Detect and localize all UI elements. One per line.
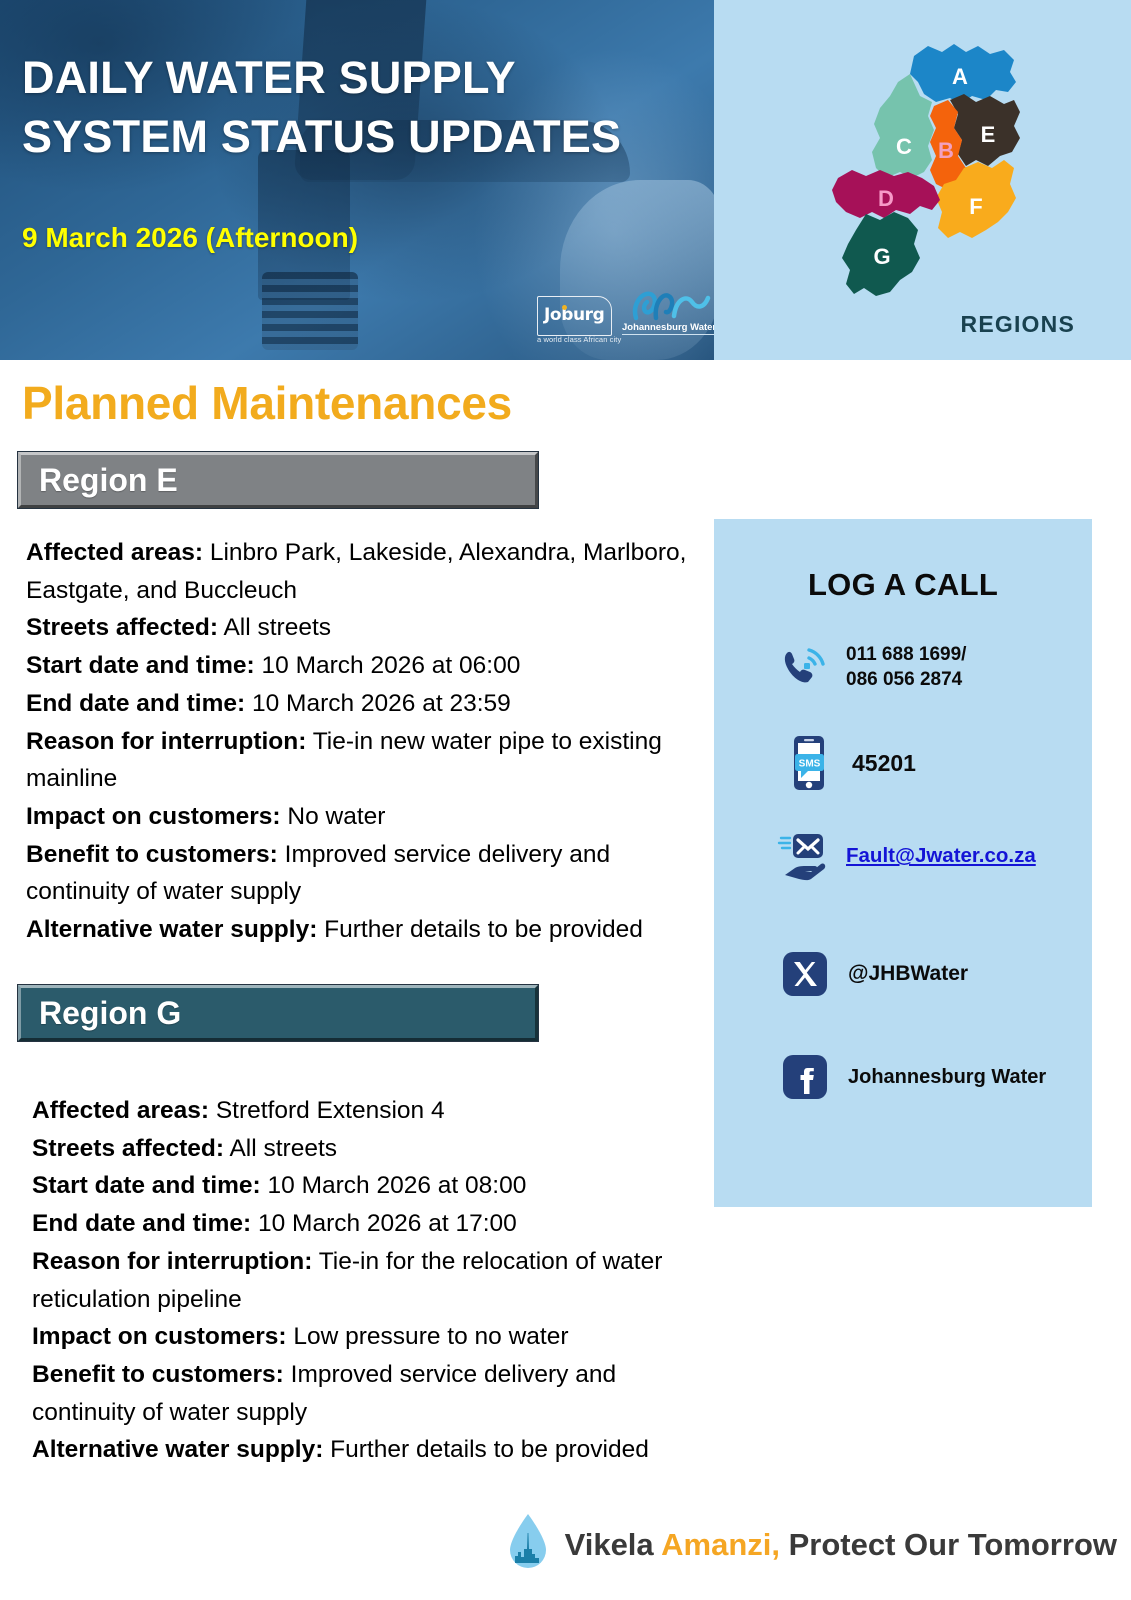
svg-text:F: F bbox=[969, 194, 982, 219]
johannesburg-water-logo: Johannesburg Water bbox=[622, 288, 714, 338]
johannesburg-water-wordmark: Johannesburg Water bbox=[622, 322, 714, 335]
joburg-logo-tagline: a world class African city bbox=[537, 335, 615, 344]
detail-benefit: Benefit to customers: Improved service d… bbox=[32, 1356, 722, 1431]
johannesburg-regions-map: A E C B F D G bbox=[714, 8, 1131, 338]
detail-label: Benefit to customers: bbox=[26, 841, 278, 868]
header-banner: DAILY WATER SUPPLY SYSTEM STATUS UPDATES… bbox=[0, 0, 1131, 360]
detail-label: End date and time: bbox=[32, 1210, 251, 1237]
detail-label: End date and time: bbox=[26, 690, 245, 717]
x-twitter-icon bbox=[776, 949, 834, 999]
detail-label: Impact on customers: bbox=[26, 803, 281, 830]
detail-value: 10 March 2026 at 17:00 bbox=[251, 1210, 517, 1237]
region-header-bar-e: Region E bbox=[18, 452, 538, 508]
detail-value: 10 March 2026 at 23:59 bbox=[245, 690, 511, 717]
detail-label: Alternative water supply: bbox=[32, 1436, 323, 1463]
detail-affected-areas: Affected areas: Linbro Park, Lakeside, A… bbox=[26, 534, 716, 609]
detail-streets-affected: Streets affected: All streets bbox=[32, 1130, 722, 1168]
x-handle: @JHBWater bbox=[848, 960, 968, 988]
detail-label: Reason for interruption: bbox=[26, 728, 306, 755]
detail-label: Affected areas: bbox=[26, 539, 203, 566]
svg-text:A: A bbox=[952, 64, 968, 89]
detail-value: No water bbox=[281, 803, 386, 830]
facebook-page-name: Johannesburg Water bbox=[848, 1064, 1046, 1090]
sms-phone-icon: SMS bbox=[780, 734, 838, 792]
phone-number-line-2: 086 056 2874 bbox=[846, 669, 962, 690]
log-a-call-panel: LOG A CALL 011 688 1699/ 086 056 2874 bbox=[714, 519, 1092, 1207]
phone-numbers: 011 688 1699/ 086 056 2874 bbox=[846, 642, 966, 692]
contact-row-x[interactable]: @JHBWater bbox=[776, 949, 968, 999]
detail-end-date: End date and time: 10 March 2026 at 23:5… bbox=[26, 685, 716, 723]
detail-streets-affected: Streets affected: All streets bbox=[26, 609, 716, 647]
detail-label: Impact on customers: bbox=[32, 1323, 287, 1350]
joburg-logo-wordmark: Joburg bbox=[544, 305, 604, 325]
detail-label: Streets affected: bbox=[26, 614, 218, 641]
detail-value: All streets bbox=[224, 1135, 337, 1162]
contact-row-phone[interactable]: 011 688 1699/ 086 056 2874 bbox=[774, 642, 966, 692]
region-label-g: Region G bbox=[21, 995, 181, 1032]
footer-tagline-amanzi: Amanzi, bbox=[661, 1527, 780, 1562]
footer-tagline-part-2: Protect Our Tomorrow bbox=[780, 1527, 1117, 1562]
svg-text:C: C bbox=[896, 134, 912, 159]
svg-text:G: G bbox=[873, 244, 890, 269]
detail-label: Reason for interruption: bbox=[32, 1248, 312, 1275]
detail-reason: Reason for interruption: Tie-in new wate… bbox=[26, 723, 716, 798]
detail-impact: Impact on customers: Low pressure to no … bbox=[32, 1318, 722, 1356]
detail-benefit: Benefit to customers: Improved service d… bbox=[26, 836, 716, 911]
region-details-g: Affected areas: Stretford Extension 4 St… bbox=[32, 1092, 722, 1469]
page-title-line-1: DAILY WATER SUPPLY bbox=[22, 48, 682, 107]
contact-row-sms[interactable]: SMS 45201 bbox=[780, 734, 916, 792]
contact-row-facebook[interactable]: Johannesburg Water bbox=[776, 1052, 1046, 1102]
facebook-icon bbox=[776, 1052, 834, 1102]
phone-icon bbox=[774, 646, 832, 688]
detail-label: Start date and time: bbox=[26, 652, 255, 679]
detail-reason: Reason for interruption: Tie-in for the … bbox=[32, 1243, 722, 1318]
water-wave-icon bbox=[622, 288, 714, 322]
detail-value: 10 March 2026 at 06:00 bbox=[255, 652, 521, 679]
detail-affected-areas: Affected areas: Stretford Extension 4 bbox=[32, 1092, 722, 1130]
detail-label: Affected areas: bbox=[32, 1097, 209, 1124]
detail-end-date: End date and time: 10 March 2026 at 17:0… bbox=[32, 1205, 722, 1243]
footer-tagline-part-1: Vikela bbox=[565, 1527, 662, 1562]
detail-value: Further details to be provided bbox=[317, 916, 643, 943]
detail-value: Further details to be provided bbox=[323, 1436, 649, 1463]
detail-start-date: Start date and time: 10 March 2026 at 08… bbox=[32, 1167, 722, 1205]
page-title: DAILY WATER SUPPLY SYSTEM STATUS UPDATES bbox=[22, 48, 682, 167]
detail-value: Low pressure to no water bbox=[287, 1323, 569, 1350]
svg-text:B: B bbox=[938, 138, 954, 163]
sms-icon-label: SMS bbox=[799, 759, 821, 770]
phone-number-line-1: 011 688 1699/ bbox=[846, 644, 966, 665]
header-photo-backdrop: DAILY WATER SUPPLY SYSTEM STATUS UPDATES… bbox=[0, 0, 714, 360]
detail-value: Stretford Extension 4 bbox=[209, 1097, 445, 1124]
detail-alternative-supply: Alternative water supply: Further detail… bbox=[26, 911, 716, 949]
joburg-logo-dot-icon bbox=[562, 305, 567, 310]
detail-label: Benefit to customers: bbox=[32, 1361, 284, 1388]
sms-number: 45201 bbox=[852, 748, 916, 778]
svg-text:E: E bbox=[981, 122, 996, 147]
detail-alternative-supply: Alternative water supply: Further detail… bbox=[32, 1431, 722, 1469]
detail-label: Streets affected: bbox=[32, 1135, 224, 1162]
water-droplet-skyline-icon bbox=[505, 1511, 551, 1578]
contact-row-email[interactable]: Fault@Jwater.co.za bbox=[774, 831, 1036, 881]
detail-impact: Impact on customers: No water bbox=[26, 798, 716, 836]
detail-start-date: Start date and time: 10 March 2026 at 06… bbox=[26, 647, 716, 685]
detail-value: All streets bbox=[218, 614, 331, 641]
email-address-link[interactable]: Fault@Jwater.co.za bbox=[846, 842, 1036, 869]
footer-tagline: Vikela Amanzi, Protect Our Tomorrow bbox=[565, 1527, 1117, 1563]
regions-map-panel: A E C B F D G REGIONS bbox=[714, 0, 1131, 360]
region-header-bar-g: Region G bbox=[18, 985, 538, 1041]
regions-map-label: REGIONS bbox=[961, 311, 1075, 338]
svg-text:D: D bbox=[878, 186, 894, 211]
page-section-heading: Planned Maintenances bbox=[22, 376, 512, 430]
email-envelope-icon bbox=[774, 831, 832, 881]
region-details-e: Affected areas: Linbro Park, Lakeside, A… bbox=[26, 534, 716, 949]
log-a-call-title: LOG A CALL bbox=[714, 567, 1092, 603]
page-title-line-2: SYSTEM STATUS UPDATES bbox=[22, 107, 682, 166]
joburg-logo: Joburg a world class African city bbox=[537, 296, 610, 344]
detail-value: 10 March 2026 at 08:00 bbox=[261, 1172, 527, 1199]
region-label-e: Region E bbox=[21, 462, 178, 499]
faucet-spout-shape bbox=[262, 272, 358, 350]
footer-bar: Vikela Amanzi, Protect Our Tomorrow bbox=[0, 1511, 1131, 1578]
detail-label: Start date and time: bbox=[32, 1172, 261, 1199]
publication-date: 9 March 2026 (Afternoon) bbox=[22, 222, 358, 254]
detail-label: Alternative water supply: bbox=[26, 916, 317, 943]
